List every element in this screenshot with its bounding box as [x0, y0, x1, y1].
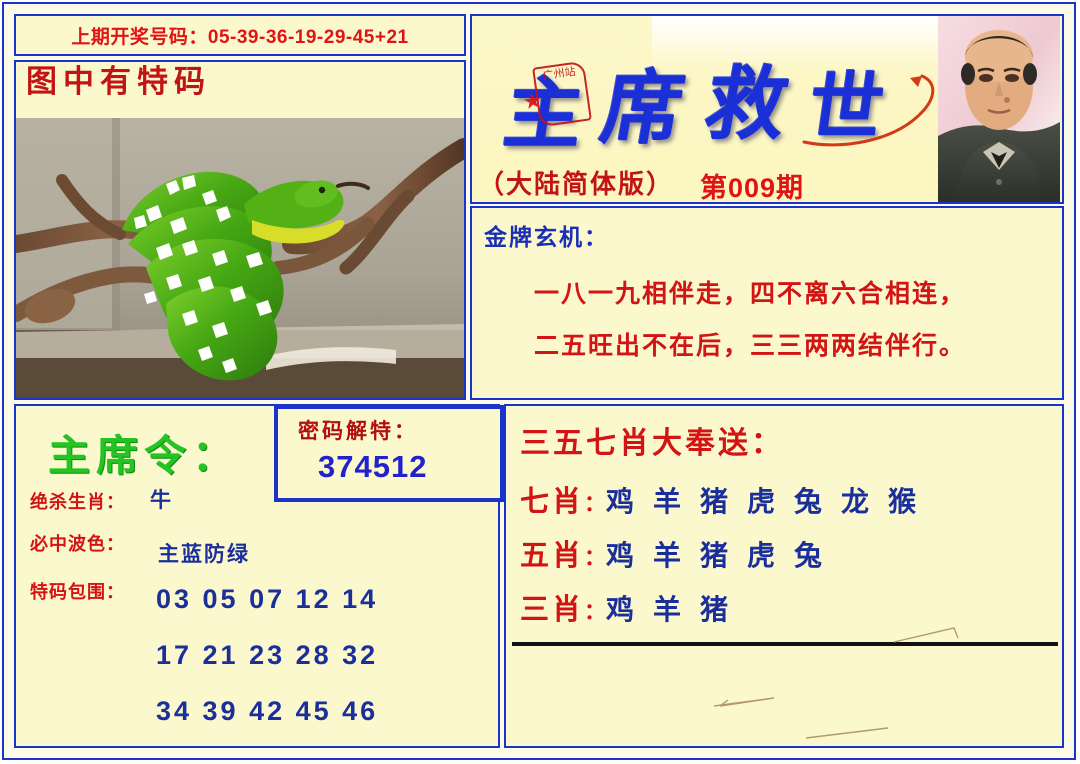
zodiac-row-five-key: 五肖	[520, 540, 584, 572]
special-range-label: 特码包围：	[30, 578, 125, 604]
zodiac-row-five: 五肖：鸡 羊 猪 虎 兔	[520, 532, 828, 574]
number-row-2: 17 21 23 28 32	[156, 640, 378, 671]
image-panel: 图中有特码	[14, 60, 466, 400]
red-star-icon: ★	[521, 89, 544, 114]
zodiac-row-three-key: 三肖	[520, 594, 584, 626]
brand-title-logo: 主 席 救 世 ★ 广州站	[500, 38, 920, 148]
seal-text: 广州站	[539, 65, 580, 82]
chairman-order-panel: 主席令： 绝杀生肖： 牛 必中波色： 主蓝防绿 特码包围： 03 05 07 1…	[14, 404, 500, 748]
edition-label: （大陆简体版）	[478, 164, 674, 201]
last-draw-strip: 上期开奖号码：05-39-36-19-29-45+21	[14, 14, 466, 56]
chairman-order-title: 主席令：	[48, 422, 240, 483]
number-row-3: 34 39 42 45 46	[156, 696, 378, 727]
section-divider	[512, 642, 1058, 646]
last-draw-text: 上期开奖号码：05-39-36-19-29-45+21	[71, 22, 408, 49]
zodiac-row-seven-value: 鸡 羊 猪 虎 兔 龙 猴	[606, 487, 922, 518]
wave-color-value: 主蓝防绿	[158, 538, 250, 568]
brand-char-2: 席	[594, 44, 694, 160]
zodiac-row-five-value: 鸡 羊 猪 虎 兔	[606, 541, 828, 572]
brand-char-3: 救	[698, 40, 798, 156]
snake-photo	[16, 118, 464, 398]
mao-portrait	[938, 16, 1060, 202]
code-decode-value: 374512	[318, 449, 427, 485]
brand-swoosh-icon	[800, 64, 950, 150]
oracle-line-1: 一八一九相伴走，四不离六合相连，	[534, 274, 966, 310]
number-row-1: 03 05 07 12 14	[156, 584, 378, 615]
oracle-label: 金牌玄机：	[484, 218, 609, 252]
zodiac-row-three: 三肖：鸡 羊 猪	[520, 586, 734, 628]
code-decode-box: 密码解特： 374512	[274, 405, 504, 502]
zodiac-row-three-value: 鸡 羊 猪	[606, 595, 734, 626]
kill-zodiac-label: 绝杀生肖：	[30, 488, 125, 514]
zodiac-row-five-sep: ：	[584, 545, 606, 570]
zodiac-row-three-sep: ：	[584, 599, 606, 624]
brand-seal-stamp: ★ 广州站	[532, 61, 592, 128]
oracle-panel: 金牌玄机： 一八一九相伴走，四不离六合相连， 二五旺出不在后，三三两两结伴行。	[470, 206, 1064, 400]
wave-color-label: 必中波色：	[30, 530, 125, 556]
code-decode-label: 密码解特：	[298, 415, 418, 445]
masthead-panel: 主 席 救 世 ★ 广州站 （大陆简体版） 第009期	[470, 14, 1064, 204]
lottery-poster: 上期开奖号码：05-39-36-19-29-45+21 图中有特码	[0, 0, 1080, 764]
zodiac-gift-title: 三五七肖大奉送：	[520, 418, 784, 462]
zodiac-gift-panel: 三五七肖大奉送： 七肖：鸡 羊 猪 虎 兔 龙 猴 五肖：鸡 羊 猪 虎 兔 三…	[504, 404, 1064, 748]
zodiac-row-seven: 七肖：鸡 羊 猪 虎 兔 龙 猴	[520, 478, 922, 520]
zodiac-row-seven-sep: ：	[584, 491, 606, 516]
image-panel-title: 图中有特码	[26, 66, 211, 97]
issue-number: 第009期	[700, 166, 804, 204]
oracle-line-2: 二五旺出不在后，三三两两结伴行。	[534, 326, 966, 362]
kill-zodiac-value: 牛	[150, 484, 173, 514]
zodiac-row-seven-key: 七肖	[520, 486, 584, 518]
